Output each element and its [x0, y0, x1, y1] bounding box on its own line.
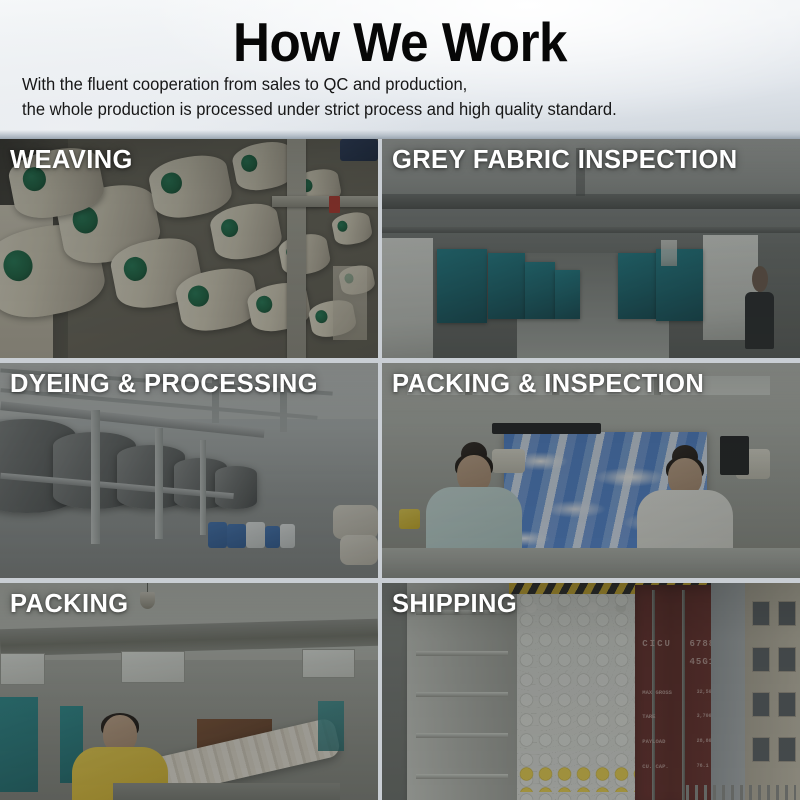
panel-weaving[interactable]: WEAVING: [0, 139, 378, 358]
panel-label-dyeing-processing: DYEING & PROCESSING: [10, 369, 318, 399]
panel-label-shipping: SHIPPING: [392, 589, 517, 619]
panel-label-weaving: WEAVING: [10, 145, 133, 175]
subtitle-line-2: the whole production is processed under …: [22, 97, 752, 122]
panel-label-grey-fabric-inspection: GREY FABRIC INSPECTION: [392, 145, 738, 175]
process-gallery-grid: WEAVING: [0, 139, 800, 800]
panel-label-packing: PACKING: [10, 589, 129, 619]
panel-grey-fabric-inspection[interactable]: GREY FABRIC INSPECTION: [382, 139, 800, 358]
page-title: How We Work: [28, 11, 772, 73]
panel-dyeing-processing[interactable]: DYEING & PROCESSING: [0, 363, 378, 578]
panel-label-packing-inspection: PACKING & INSPECTION: [392, 369, 704, 399]
page-header: How We Work With the fluent cooperation …: [0, 0, 800, 139]
panel-shipping[interactable]: CICU 678802 5 45G1 MAX GROSS 32,500 TARE…: [382, 583, 800, 800]
panel-packing-inspection[interactable]: PACKING & INSPECTION: [382, 363, 800, 578]
panel-packing[interactable]: PACKING: [0, 583, 378, 800]
subtitle-line-1: With the fluent cooperation from sales t…: [22, 72, 752, 97]
how-we-work-page: How We Work With the fluent cooperation …: [0, 0, 800, 800]
page-subtitle: With the fluent cooperation from sales t…: [22, 72, 752, 122]
